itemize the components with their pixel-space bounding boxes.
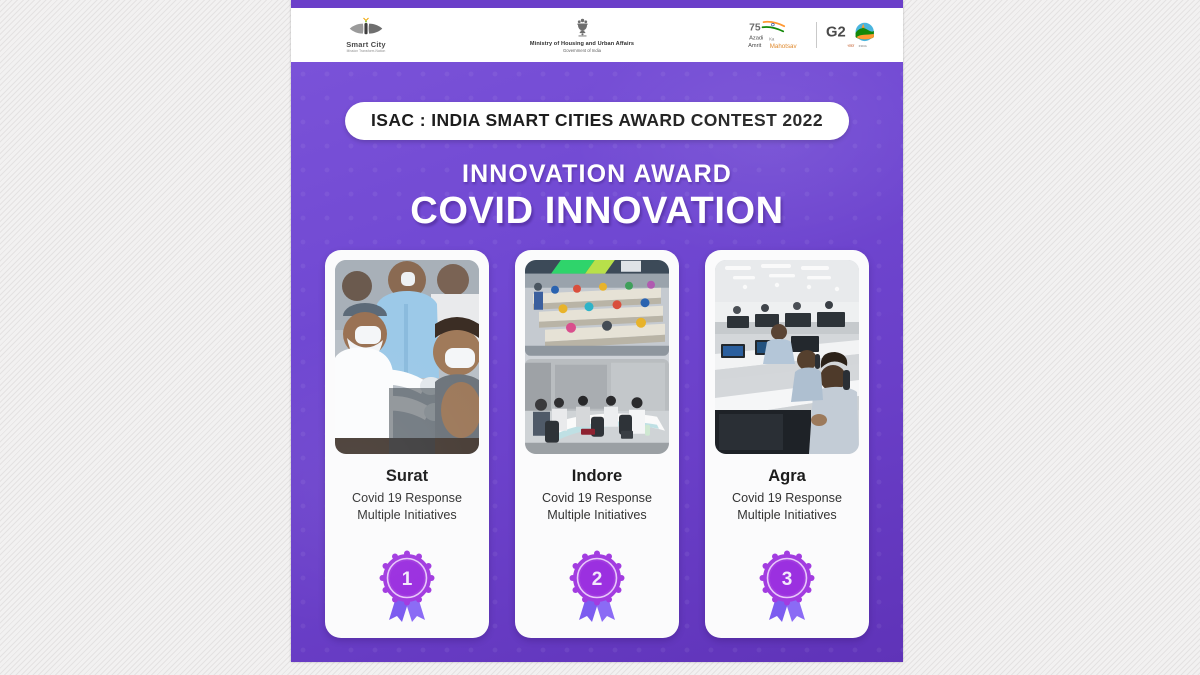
- winner-description-line1: Covid 19 Response: [542, 490, 652, 507]
- call-centre-photo-illustration: [525, 260, 669, 356]
- winner-photo-vaccination: [335, 260, 479, 454]
- svg-text:भारत: भारत: [847, 44, 855, 48]
- logo-bar: Smart City Mission Transform-Nation: [291, 8, 903, 62]
- winner-card[interactable]: Surat Covid 19 Response Multiple Initiat…: [325, 250, 489, 638]
- rank-ribbon: 3: [705, 550, 869, 624]
- amrit-mahotsav-icon: 75 Azadi Ka Amrit Mahotsav: [746, 18, 808, 52]
- photo-top-command-centre: [525, 260, 669, 356]
- ministry-logo-subtitle: Government of India: [563, 49, 601, 53]
- right-logo-group: 75 Azadi Ka Amrit Mahotsav G2: [723, 8, 903, 62]
- ministry-logo-title: Ministry of Housing and Urban Affairs: [530, 42, 634, 48]
- award-ribbon-icon: 1: [379, 550, 435, 624]
- control-centre-photo-illustration: [715, 260, 859, 454]
- winner-city: Surat: [386, 467, 428, 485]
- winner-card[interactable]: Indore Covid 19 Response Multiple Initia…: [515, 250, 679, 638]
- winner-cards-row: Surat Covid 19 Response Multiple Initiat…: [291, 250, 903, 638]
- smart-city-logo-subtitle: Mission Transform-Nation: [347, 50, 386, 53]
- national-emblem-icon: [575, 17, 590, 39]
- rank-number: 2: [592, 569, 603, 590]
- rank-ribbon: 1: [325, 550, 489, 624]
- svg-text:INDIA: INDIA: [858, 44, 867, 48]
- vaccination-photo-illustration: [335, 260, 479, 454]
- g20-india-icon: G2 भारत INDIA: [825, 19, 881, 51]
- winner-description-line1: Covid 19 Response: [352, 490, 462, 507]
- award-kicker: INNOVATION AWARD: [291, 160, 903, 189]
- rank-number: 3: [782, 569, 793, 590]
- ministry-logo: Ministry of Housing and Urban Affairs Go…: [441, 8, 723, 62]
- contest-title-pill: ISAC : INDIA SMART CITIES AWARD CONTEST …: [345, 102, 849, 140]
- rank-number: 1: [402, 569, 413, 590]
- svg-text:75: 75: [749, 22, 761, 33]
- winner-photo-command-centre-meeting: [525, 260, 669, 454]
- contest-title: ISAC : INDIA SMART CITIES AWARD CONTEST …: [371, 110, 823, 130]
- svg-text:Mahotsav: Mahotsav: [769, 43, 797, 50]
- award-poster: Smart City Mission Transform-Nation: [291, 0, 903, 662]
- winner-description-line1: Covid 19 Response: [732, 490, 842, 507]
- svg-text:Azadi: Azadi: [749, 36, 763, 42]
- photo-bottom-meeting-room: [525, 359, 669, 455]
- winner-description: Covid 19 Response Multiple Initiatives: [732, 490, 842, 523]
- smart-city-mark-icon: [346, 17, 386, 39]
- logo-divider: [816, 22, 817, 48]
- award-ribbon-icon: 3: [759, 550, 815, 624]
- meeting-room-photo-illustration: [525, 359, 669, 455]
- smart-city-logo: Smart City Mission Transform-Nation: [291, 8, 441, 62]
- svg-text:G2: G2: [826, 25, 846, 41]
- svg-text:Amrit: Amrit: [748, 43, 762, 49]
- winner-description: Covid 19 Response Multiple Initiatives: [542, 490, 652, 523]
- winner-city: Indore: [572, 467, 622, 485]
- svg-text:Ka: Ka: [769, 37, 775, 42]
- winner-description-line2: Multiple Initiatives: [542, 507, 652, 524]
- winner-city: Agra: [768, 467, 806, 485]
- winner-card[interactable]: Agra Covid 19 Response Multiple Initiati…: [705, 250, 869, 638]
- rank-ribbon: 2: [515, 550, 679, 624]
- award-title: COVID INNOVATION: [291, 190, 903, 233]
- winner-description-line2: Multiple Initiatives: [732, 507, 842, 524]
- azadi-ka-amrit-mahotsav-logo: 75 Azadi Ka Amrit Mahotsav: [746, 18, 808, 52]
- poster-body: ISAC : INDIA SMART CITIES AWARD CONTEST …: [291, 62, 903, 662]
- smart-city-logo-title: Smart City: [346, 41, 386, 49]
- winner-description: Covid 19 Response Multiple Initiatives: [352, 490, 462, 523]
- winner-description-line2: Multiple Initiatives: [352, 507, 462, 524]
- winner-photo-control-centre: [715, 260, 859, 454]
- award-ribbon-icon: 2: [569, 550, 625, 624]
- g20-logo: G2 भारत INDIA: [825, 19, 881, 51]
